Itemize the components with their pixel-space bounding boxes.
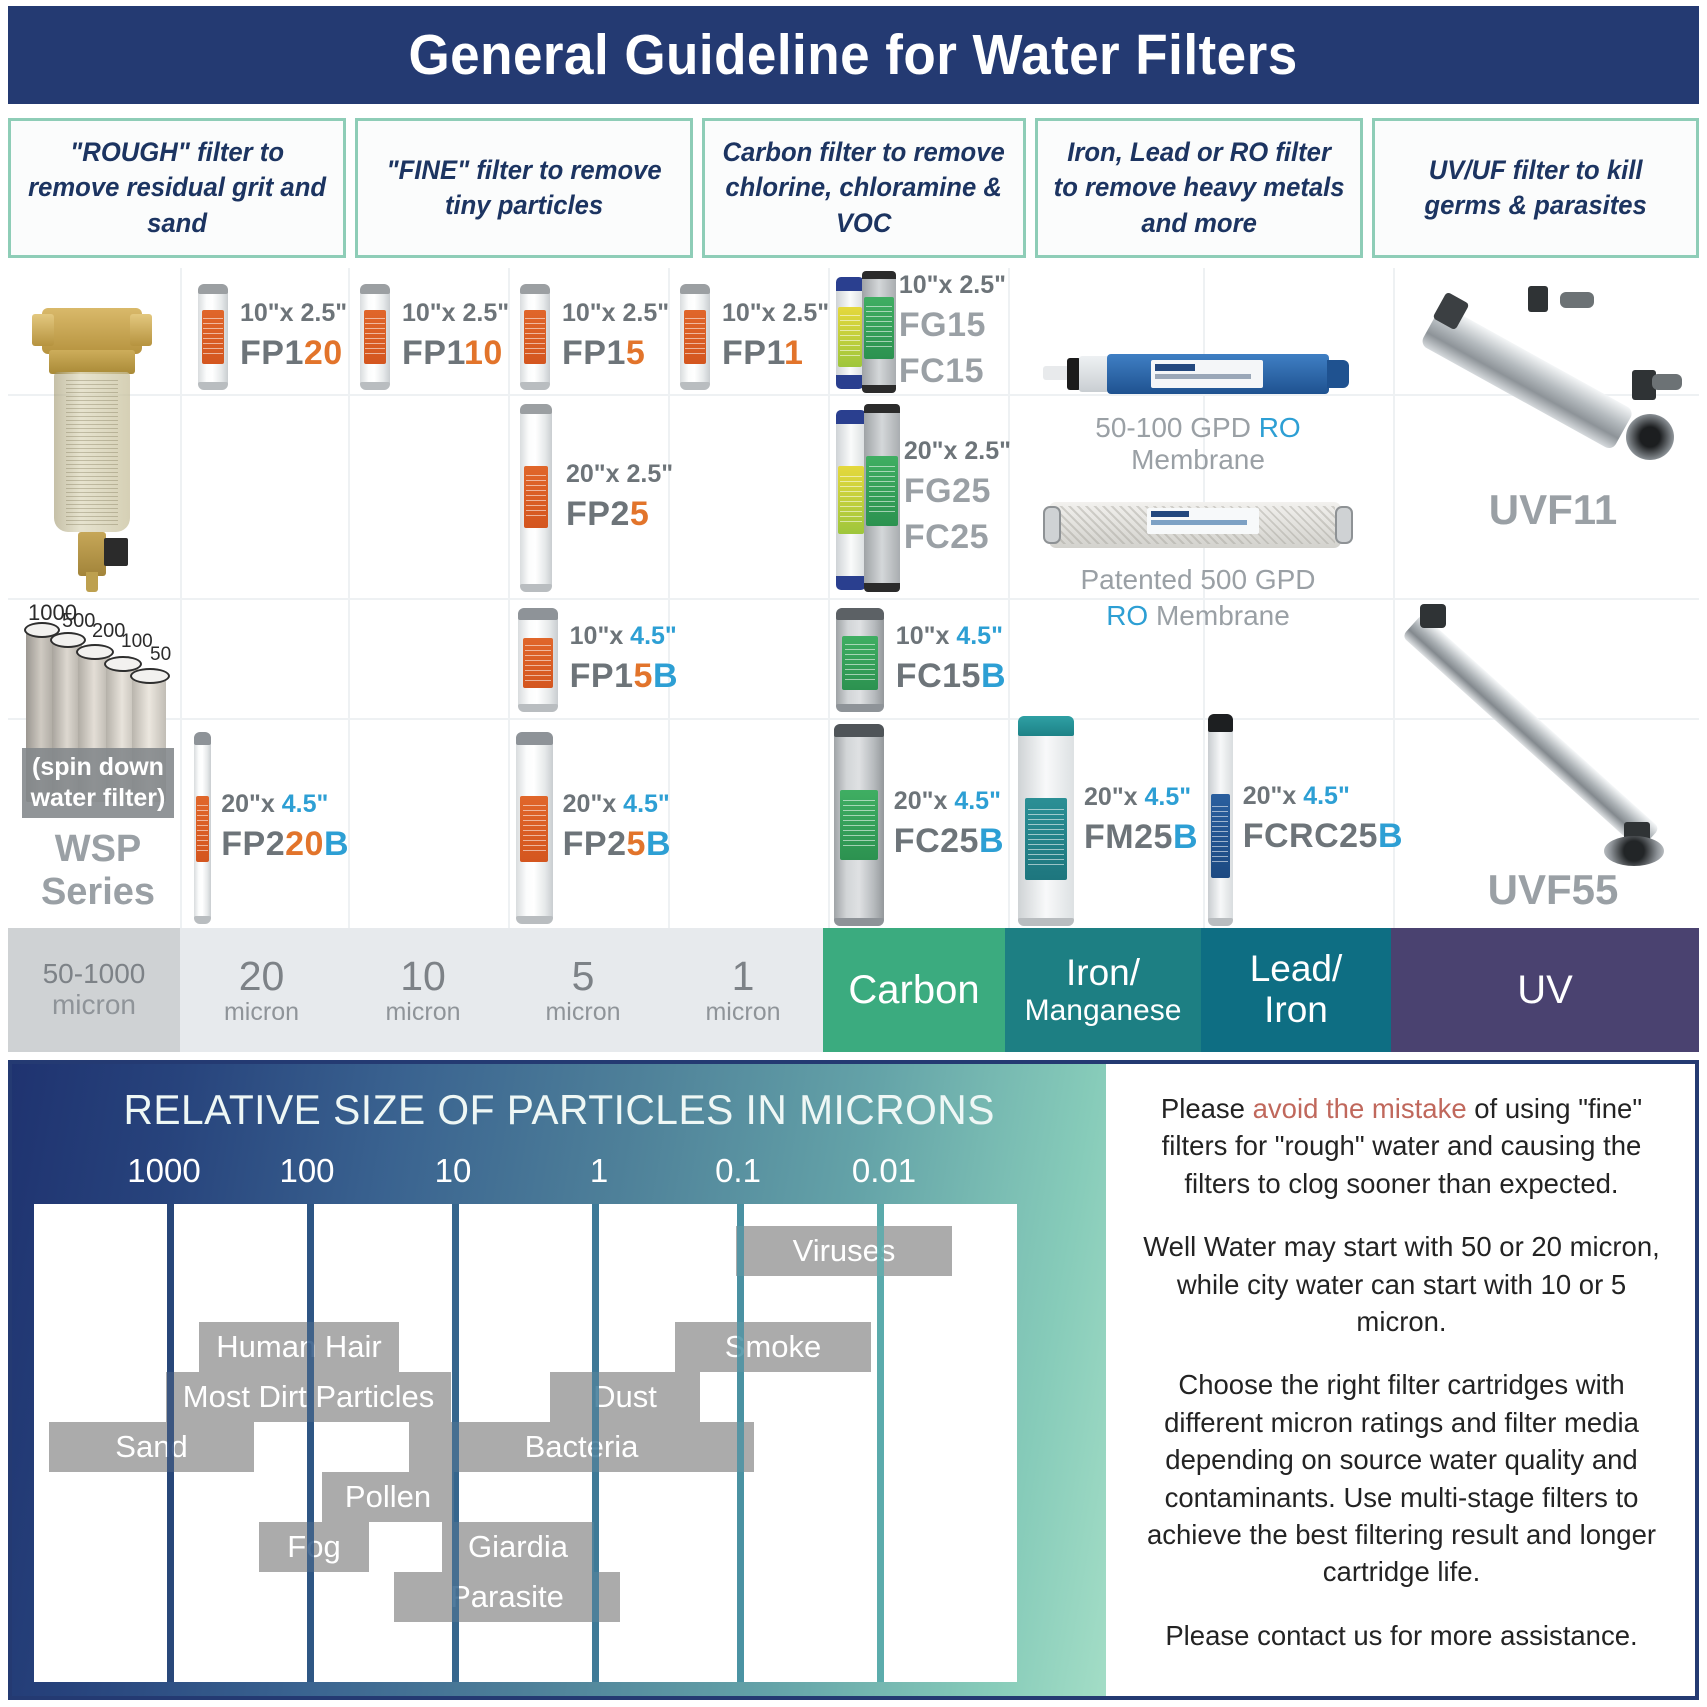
tick-1000: 1000: [127, 1152, 200, 1190]
product-code-2: FC15: [899, 349, 1006, 395]
product-code-2: FC25: [904, 515, 1011, 561]
product-fc15b: 10"x 4.5" FC15B: [836, 606, 1006, 714]
uvf11-label: UVF11: [1408, 486, 1698, 534]
particle-size-chart: RELATIVE SIZE OF PARTICLES IN MICRONS 10…: [12, 1064, 1106, 1696]
product-code: FC15B: [896, 654, 1006, 700]
product-dim: 10"x 2.5": [899, 269, 1006, 303]
product-dim: 10"x 4.5": [896, 620, 1006, 654]
category-box-fine: "FINE" filter to remove tiny particles: [355, 118, 693, 258]
product-fp15: 10"x 2.5" FP15: [520, 282, 670, 392]
chart-plot-area: Viruses Smoke Human Hair Most Dirt Parti…: [34, 1204, 1094, 1682]
particle-bar-sand: Sand: [49, 1422, 254, 1472]
product-code: FP25: [566, 492, 673, 538]
particle-bar-giardia: Giardia: [442, 1522, 594, 1572]
wsp-series-label: WSP Series: [16, 828, 180, 913]
advice-paragraph-2: Well Water may start with 50 or 20 micro…: [1132, 1228, 1671, 1340]
product-grid: 1000 500 200 100 50 (spin down water fil…: [8, 268, 1699, 928]
tick-1: 1: [590, 1152, 608, 1190]
product-fp25b: 20"x 4.5" FP25B: [516, 730, 671, 926]
product-code: FC25B: [894, 819, 1004, 865]
chart-gridline: [737, 1204, 744, 1682]
category-box-rough: "ROUGH" filter to remove residual grit a…: [8, 118, 346, 258]
particle-bar-smoke: Smoke: [675, 1322, 871, 1372]
product-dim: 20"x 4.5": [221, 788, 349, 822]
category-label-fine: "FINE" filter to remove tiny particles: [374, 153, 674, 223]
particle-bar-bacteria: Bacteria: [409, 1422, 754, 1472]
product-code: FP110: [402, 331, 509, 377]
category-label-uv: UV/UF filter to kill germs & parasites: [1390, 153, 1680, 223]
product-code: FG25: [904, 469, 1011, 515]
uvf55-label: UVF55: [1408, 866, 1698, 914]
chart-gridline: [307, 1204, 314, 1682]
product-dim: 20"x 4.5": [1084, 781, 1198, 815]
category-box-metals: Iron, Lead or RO filter to remove heavy …: [1035, 118, 1363, 258]
bottom-panel: RELATIVE SIZE OF PARTICLES IN MICRONS 10…: [8, 1060, 1699, 1700]
product-dim: 10"x 2.5": [722, 297, 829, 331]
product-code: FM25B: [1084, 815, 1198, 861]
category-label-rough: "ROUGH" filter to remove residual grit a…: [27, 135, 327, 240]
particle-bar-viruses: Viruses: [736, 1226, 952, 1276]
product-ro-membrane-large: Patented 500 GPD RO Membrane: [1028, 496, 1368, 626]
micron-seg-20: 20 micron: [180, 928, 343, 1052]
product-fp15b: 10"x 4.5" FP15B: [518, 606, 678, 714]
product-code: FP15B: [570, 654, 678, 700]
particle-bar-dust: Dust: [550, 1372, 700, 1422]
spin-down-housing-image: [32, 300, 152, 590]
page-title: General Guideline for Water Filters: [409, 22, 1298, 88]
product-code: FCRC25B: [1243, 814, 1403, 860]
product-code: FP11: [722, 331, 829, 377]
product-uvf55: UVF55: [1408, 600, 1698, 928]
micron-seg-10: 10 micron: [343, 928, 503, 1052]
micron-seg-lead: Lead/ Iron: [1201, 928, 1391, 1052]
ro-membrane-large-label: Patented 500 GPD RO Membrane: [1028, 562, 1368, 635]
product-ro-membrane-small: 50-100 GPD RO Membrane: [1028, 348, 1368, 458]
product-fc25b: 20"x 4.5" FC25B: [834, 722, 1004, 928]
product-code: FP120: [240, 331, 347, 377]
product-code: FP220B: [221, 822, 349, 868]
category-label-metals: Iron, Lead or RO filter to remove heavy …: [1053, 135, 1344, 240]
product-dim: 10"x 4.5": [570, 620, 678, 654]
infographic-page: General Guideline for Water Filters "ROU…: [0, 0, 1707, 1707]
tick-100: 100: [279, 1152, 334, 1190]
title-bar: General Guideline for Water Filters: [8, 6, 1699, 104]
ro-membrane-small-label: 50-100 GPD RO Membrane: [1028, 412, 1368, 476]
advice-paragraph-1: Please avoid the mistake of using "fine"…: [1132, 1090, 1671, 1202]
product-fm25b: 20"x 4.5" FM25B: [1018, 714, 1198, 928]
category-box-carbon: Carbon filter to remove chlorine, chlora…: [702, 118, 1025, 258]
product-code: FP15: [562, 331, 669, 377]
product-dim: 20"x 4.5": [894, 785, 1004, 819]
product-dim: 10"x 2.5": [402, 297, 509, 331]
product-dim: 20"x 4.5": [1243, 780, 1403, 814]
chart-gridline: [167, 1204, 174, 1682]
product-uvf11: UVF11: [1408, 278, 1698, 588]
particle-bar-human-hair: Human Hair: [199, 1322, 399, 1372]
product-dim: 20"x 2.5": [904, 435, 1011, 469]
particle-bar-pollen: Pollen: [322, 1472, 454, 1522]
micron-seg-5: 5 micron: [503, 928, 663, 1052]
product-fp25: 20"x 2.5" FP25: [520, 403, 680, 593]
product-code: FG15: [899, 303, 1006, 349]
product-dim: 10"x 2.5": [562, 297, 669, 331]
micron-rating-bar: 50-1000 micron 20 micron 10 micron 5 mic…: [8, 928, 1699, 1052]
product-fg15-fc15: 10"x 2.5" FG15 FC15: [836, 270, 1006, 394]
wsp-micron-100: 100: [121, 631, 153, 653]
product-fp220b: 20"x 4.5" FP220B: [194, 730, 349, 926]
wsp-micron-500: 500: [62, 610, 95, 633]
particle-bar-fog: Fog: [259, 1522, 369, 1572]
micron-seg-wsp: 50-1000 micron: [8, 928, 180, 1052]
wsp-micron-50: 50: [150, 644, 171, 666]
chart-axis-ticks: 1000 100 10 1 0.1 0.01: [12, 1152, 1106, 1198]
category-box-uv: UV/UF filter to kill germs & parasites: [1372, 118, 1699, 258]
advice-paragraph-4: Please contact us for more assistance.: [1132, 1617, 1671, 1654]
product-fp11: 10"x 2.5" FP11: [680, 282, 830, 392]
spin-down-overlay-label: (spin down water filter): [22, 748, 174, 818]
tick-0.01: 0.01: [852, 1152, 916, 1190]
product-fp120: 10"x 2.5" FP120: [198, 282, 348, 392]
tick-0.1: 0.1: [715, 1152, 761, 1190]
category-header-row: "ROUGH" filter to remove residual grit a…: [8, 118, 1699, 258]
micron-seg-uv: UV: [1391, 928, 1699, 1052]
product-fcrc25b: 20"x 4.5" FCRC25B: [1208, 712, 1403, 928]
product-dim: 20"x 2.5": [566, 458, 673, 492]
tick-10: 10: [435, 1152, 472, 1190]
product-code: FP25B: [563, 822, 671, 868]
product-fp110: 10"x 2.5" FP110: [360, 282, 510, 392]
category-label-carbon: Carbon filter to remove chlorine, chlora…: [721, 135, 1007, 240]
chart-gridline: [592, 1204, 599, 1682]
chart-title: RELATIVE SIZE OF PARTICLES IN MICRONS: [12, 1086, 1106, 1134]
micron-seg-iron: Iron/ Manganese: [1005, 928, 1201, 1052]
product-dim: 10"x 2.5": [240, 297, 347, 331]
particle-bar-parasite: Parasite: [394, 1572, 620, 1622]
product-dim: 20"x 4.5": [563, 788, 671, 822]
product-fg25-fc25: 20"x 2.5" FG25 FC25: [836, 403, 1011, 593]
micron-seg-carbon: Carbon: [823, 928, 1005, 1052]
chart-gridline: [452, 1204, 459, 1682]
advice-paragraph-3: Choose the right filter cartridges with …: [1132, 1366, 1671, 1590]
advice-panel: Please avoid the mistake of using "fine"…: [1106, 1064, 1695, 1696]
chart-gridline: [877, 1204, 884, 1682]
micron-seg-1: 1 micron: [663, 928, 823, 1052]
